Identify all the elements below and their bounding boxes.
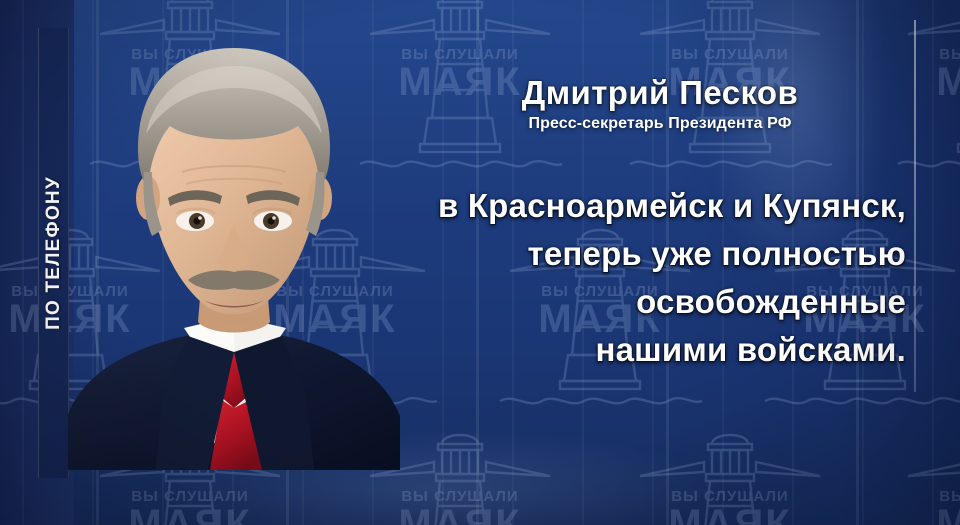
quote-line: теперь уже полностью (404, 230, 906, 278)
quote-line: нашими войсками. (404, 326, 906, 374)
speaker-name: Дмитрий Песков (404, 74, 916, 112)
panel-divider (914, 20, 916, 392)
quote-line: в Красноармейск и Купянск, (404, 182, 906, 230)
speaker-text-panel: Дмитрий Песков Пресс-секретарь Президент… (404, 18, 916, 396)
speaker-role: Пресс-секретарь Президента РФ (404, 115, 916, 133)
quote-text: в Красноармейск и Купянск,теперь уже пол… (404, 182, 916, 374)
speaker-portrait (58, 22, 410, 470)
broadcast-quote-card: ВЫ СЛУШАЛИМАЯК ВЫ СЛУШАЛИМАЯК (0, 0, 960, 525)
quote-line: освобожденные (404, 278, 906, 326)
